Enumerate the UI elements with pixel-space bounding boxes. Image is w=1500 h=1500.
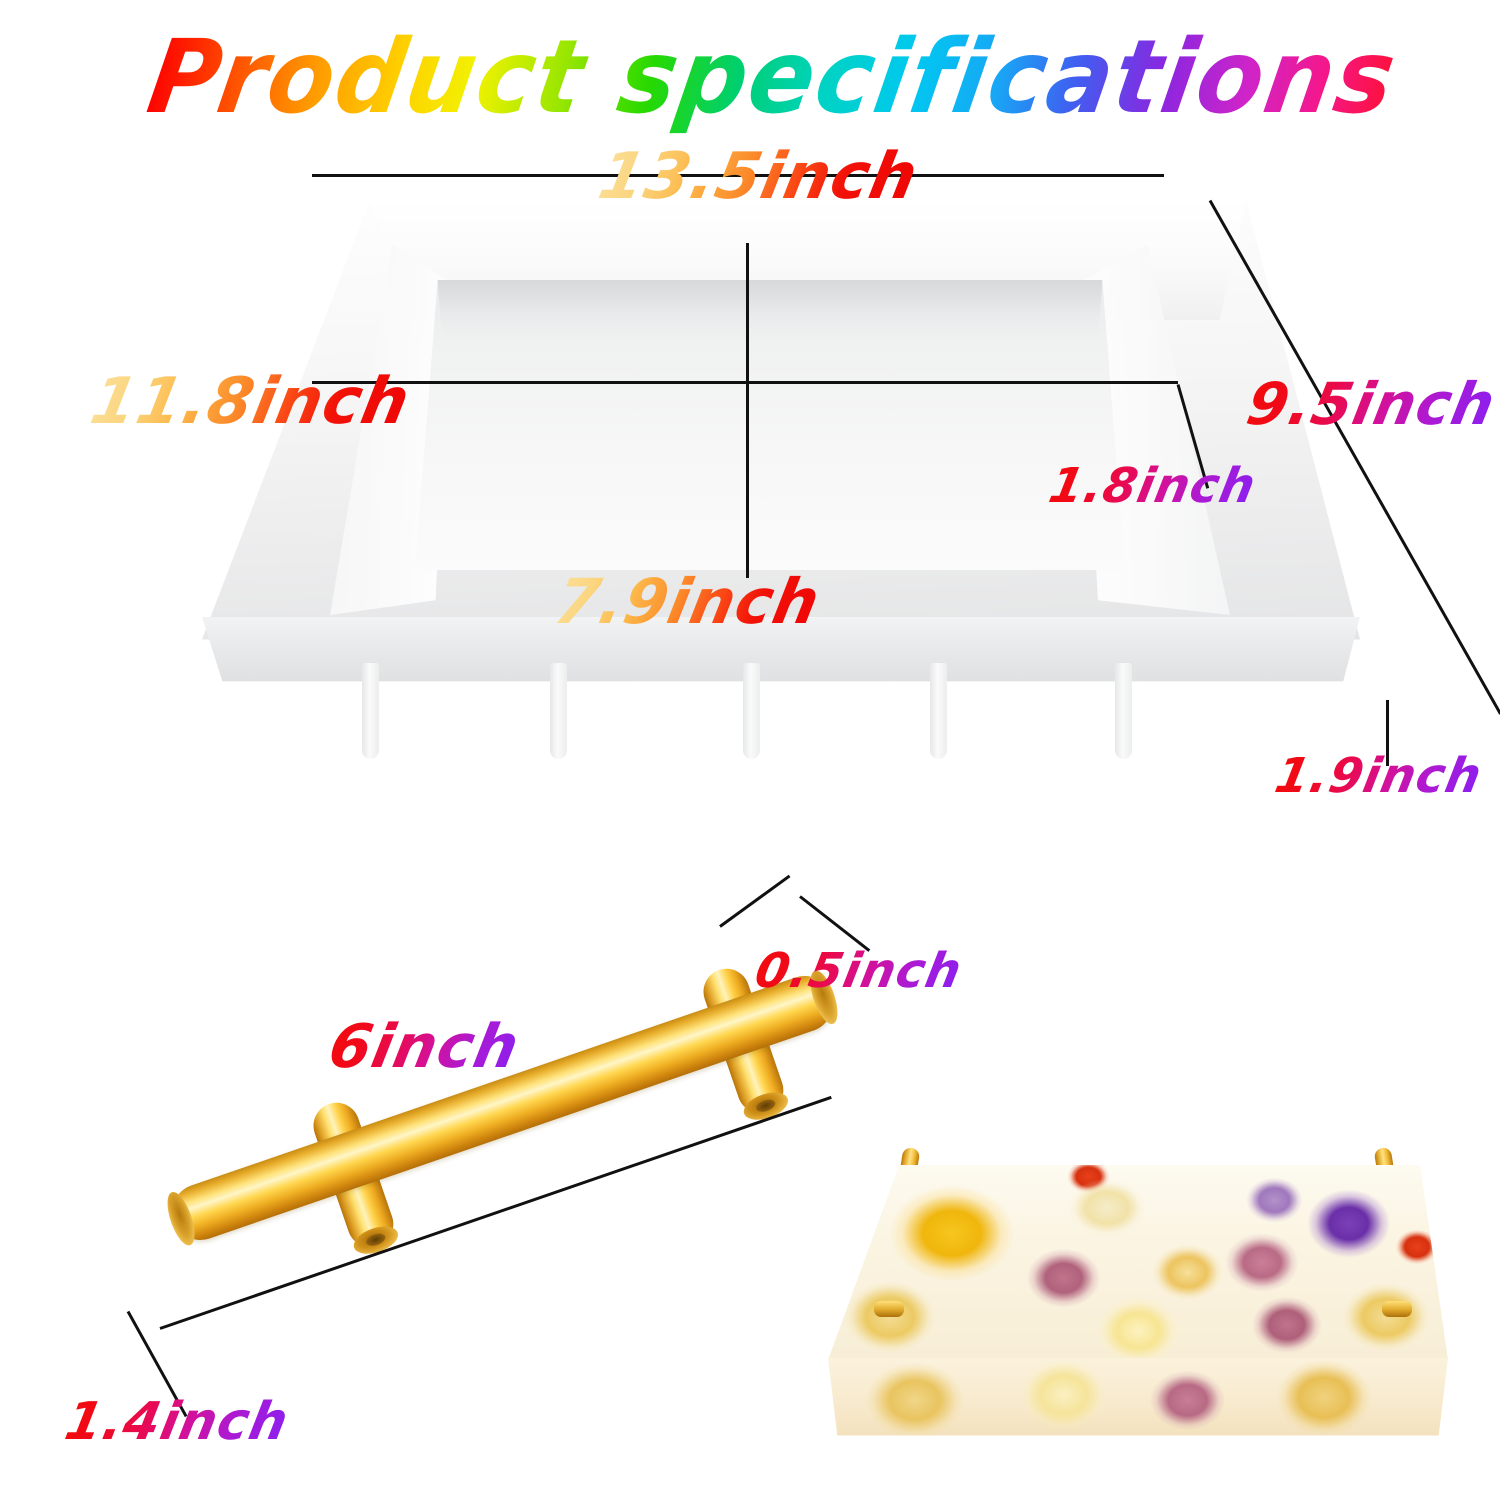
dimension-label-depth-outer: 9.5inch xyxy=(1241,370,1500,438)
page-title: Product specifications xyxy=(141,19,1409,136)
mold-leg xyxy=(930,663,947,759)
finished-resin-flower-tray xyxy=(818,1135,1468,1480)
tray-handle-foot-left xyxy=(874,1301,904,1317)
mold-leg xyxy=(743,663,760,759)
tray-handle-foot-right xyxy=(1382,1301,1412,1317)
handle-bar xyxy=(165,968,840,1247)
mold-cavity-shadow xyxy=(415,280,1125,340)
mold-leg xyxy=(362,663,379,759)
mold-leg xyxy=(1115,663,1132,759)
dimension-label-height-outer: 1.9inch xyxy=(1271,748,1487,804)
dimension-label-handle-post-width: 0.5inch xyxy=(751,943,967,999)
dimension-label-width-inner: 7.9inch xyxy=(549,565,826,638)
dimension-label-length-inner: 11.8inch xyxy=(85,365,416,439)
handle-bar-end-cap xyxy=(162,1189,200,1249)
tray-front-edge xyxy=(828,1358,1448,1446)
dimension-label-handle-length: 6inch xyxy=(323,1012,525,1082)
mold-leg xyxy=(550,663,567,759)
tray-top-surface xyxy=(828,1165,1448,1360)
leader-line-length-inner xyxy=(312,381,1178,384)
leader-line-width-inner xyxy=(746,243,749,578)
dimension-label-height-inner: 1.8inch xyxy=(1045,458,1261,514)
product-specification-image: Product specifications 13.5inch 11.8inch… xyxy=(0,0,1500,1500)
dimension-label-width-outer: 13.5inch xyxy=(593,140,924,214)
dimension-label-handle-post-height: 1.4inch xyxy=(60,1392,293,1452)
